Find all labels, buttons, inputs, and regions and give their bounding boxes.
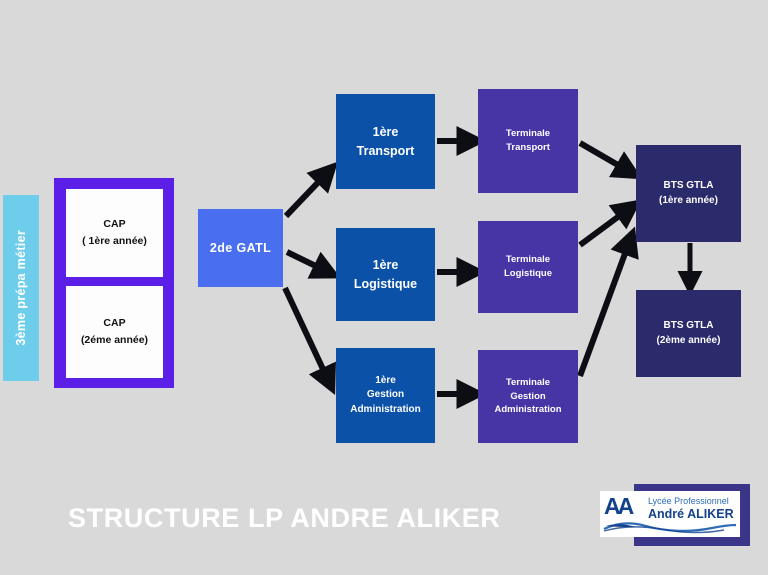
arrow-terminale-logistique-to-bts1 bbox=[580, 208, 630, 245]
node-bts-gtla-second-year-line1: BTS GTLA bbox=[640, 319, 737, 334]
node-bts-gtla-first-year-line2: (1ère année) bbox=[640, 194, 737, 209]
node-terminale-transport-line1: Terminale bbox=[482, 127, 574, 141]
node-terminale-transport-line2: Transport bbox=[482, 141, 574, 155]
node-2de-gatl-label: 2de GATL bbox=[202, 239, 279, 257]
arrow-2de-to-1ere-gestion bbox=[285, 288, 329, 382]
node-terminale-gestion-line2: Gestion bbox=[482, 390, 574, 404]
arrow-2de-to-1ere-transport bbox=[286, 172, 328, 216]
arrow-2de-to-1ere-logistique bbox=[287, 252, 328, 272]
node-terminale-gestion-line3: Administration bbox=[482, 403, 574, 417]
cap-first-year-line1: CAP bbox=[70, 216, 159, 233]
logo-monogram-aa: AA bbox=[604, 495, 631, 518]
arrow-terminale-transport-to-bts1 bbox=[580, 143, 630, 172]
node-1ere-logistique: 1ère Logistique bbox=[336, 228, 435, 321]
node-1ere-transport: 1ère Transport bbox=[336, 94, 435, 189]
cap-first-year-box: CAP ( 1ère année) bbox=[66, 189, 163, 277]
node-1ere-gestion-line3: Administration bbox=[340, 403, 431, 418]
node-1ere-transport-line2: Transport bbox=[340, 142, 431, 160]
node-1ere-gestion-line1: 1ère bbox=[340, 374, 431, 389]
node-terminale-logistique-line2: Logistique bbox=[482, 267, 574, 281]
cap-second-year-box: CAP (2éme année) bbox=[66, 286, 163, 378]
cap-second-year-line1: CAP bbox=[70, 315, 159, 332]
page-title: STRUCTURE LP ANDRE ALIKER bbox=[68, 503, 501, 534]
logo-line-andre-aliker: André ALIKER bbox=[648, 507, 734, 521]
node-1ere-logistique-line1: 1ère bbox=[340, 256, 431, 274]
school-logo: AA Lycée Professionnel André ALIKER bbox=[600, 484, 750, 546]
node-terminale-logistique-line1: Terminale bbox=[482, 253, 574, 267]
node-terminale-gestion-administration: Terminale Gestion Administration bbox=[478, 350, 578, 443]
node-1ere-gestion-line2: Gestion bbox=[340, 388, 431, 403]
node-terminale-transport: Terminale Transport bbox=[478, 89, 578, 193]
cap-second-year-line2: (2éme année) bbox=[70, 332, 159, 349]
node-bts-gtla-first-year-line1: BTS GTLA bbox=[640, 179, 737, 194]
node-terminale-gestion-line1: Terminale bbox=[482, 376, 574, 390]
node-bts-gtla-second-year-line2: (2ème année) bbox=[640, 334, 737, 349]
cap-first-year-line2: ( 1ère année) bbox=[70, 233, 159, 250]
node-2de-gatl: 2de GATL bbox=[198, 209, 283, 287]
node-terminale-logistique: Terminale Logistique bbox=[478, 221, 578, 313]
prepa-metier-rail: 3ème prépa métier bbox=[3, 195, 39, 381]
node-1ere-gestion-administration: 1ère Gestion Administration bbox=[336, 348, 435, 443]
diagram-canvas: 3ème prépa métier CAP ( 1ère année) CAP … bbox=[0, 0, 768, 575]
logo-line-lycee-professionnel: Lycée Professionnel bbox=[648, 496, 729, 506]
node-1ere-transport-line1: 1ère bbox=[340, 123, 431, 141]
node-bts-gtla-second-year: BTS GTLA (2ème année) bbox=[636, 290, 741, 377]
arrow-terminale-gestion-to-bts1 bbox=[580, 240, 630, 376]
node-1ere-logistique-line2: Logistique bbox=[340, 275, 431, 293]
logo-wave-icon bbox=[602, 520, 738, 536]
node-bts-gtla-first-year: BTS GTLA (1ère année) bbox=[636, 145, 741, 242]
logo-card: AA Lycée Professionnel André ALIKER bbox=[600, 491, 740, 537]
prepa-metier-label: 3ème prépa métier bbox=[14, 230, 28, 346]
